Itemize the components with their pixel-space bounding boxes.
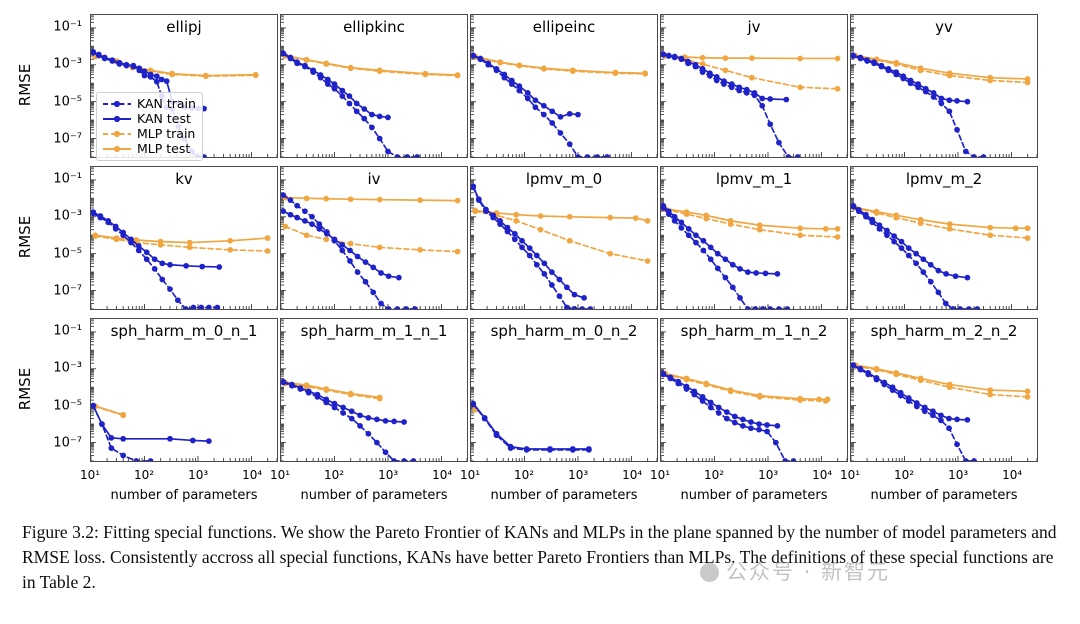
x-tick-label: 10¹ xyxy=(460,468,480,482)
plot-panel-iv: iv xyxy=(280,166,468,310)
x-axis-label: number of parameters xyxy=(660,488,848,503)
legend-label: MLP test xyxy=(137,141,190,156)
x-tick-label: 10³ xyxy=(948,468,968,482)
x-tick-label: 10⁴ xyxy=(622,468,642,482)
x-tick-label: 10¹ xyxy=(80,468,100,482)
plot-panel-lpmv_m_0: lpmv_m_0 xyxy=(470,166,658,310)
x-axis-ticks: 10¹10²10³10⁴ xyxy=(850,468,1038,486)
x-tick-label: 10² xyxy=(324,468,344,482)
legend-item-kan-test[interactable]: KAN test xyxy=(102,111,196,126)
legend-label: KAN test xyxy=(137,111,191,126)
plot-panel-lpmv_m_2: lpmv_m_2 xyxy=(850,166,1038,310)
x-axis-label: number of parameters xyxy=(470,488,658,503)
y-tick-label: 10⁻⁵ xyxy=(53,94,82,109)
y-tick-label: 10⁻¹ xyxy=(53,20,82,35)
plot-panel-lpmv_m_1: lpmv_m_1 xyxy=(660,166,848,310)
legend-line-marker-icon xyxy=(102,128,132,140)
legend-item-mlp-train[interactable]: MLP train xyxy=(102,126,196,141)
x-tick-label: 10¹ xyxy=(840,468,860,482)
x-tick-label: 10² xyxy=(134,468,154,482)
plot-panel-yv: yv xyxy=(850,14,1038,158)
plot-panel-ellipeinc: ellipeinc xyxy=(470,14,658,158)
x-axis-label: number of parameters xyxy=(90,488,278,503)
x-tick-label: 10¹ xyxy=(270,468,290,482)
y-axis-label-text: RMSE xyxy=(16,368,34,410)
x-tick-label: 10³ xyxy=(568,468,588,482)
y-tick-label: 10⁻⁷ xyxy=(53,436,82,451)
y-axis-label: RMSE xyxy=(4,228,30,248)
figure-page: ellipj10⁻¹10⁻³10⁻⁵10⁻⁷RMSEellipkincellip… xyxy=(0,0,1080,624)
y-axis-ticks: 10⁻¹10⁻³10⁻⁵10⁻⁷ xyxy=(38,318,86,462)
plot-panel-ellipkinc: ellipkinc xyxy=(280,14,468,158)
plot-panel-jv: jv xyxy=(660,14,848,158)
plot-panel-sph_harm_m_1_n_2: sph_harm_m_1_n_2 xyxy=(660,318,848,462)
y-axis-label: RMSE xyxy=(4,380,30,400)
legend-label: KAN train xyxy=(137,96,196,111)
plot-panel-sph_harm_m_2_n_2: sph_harm_m_2_n_2 xyxy=(850,318,1038,462)
y-tick-label: 10⁻¹ xyxy=(53,172,82,187)
legend-line-marker-icon xyxy=(102,143,132,155)
figure-caption: Figure 3.2: Fitting special functions. W… xyxy=(22,520,1062,595)
plot-panel-sph_harm_m_1_n_1: sph_harm_m_1_n_1 xyxy=(280,318,468,462)
x-tick-label: 10² xyxy=(704,468,724,482)
y-axis-label-text: RMSE xyxy=(16,64,34,106)
y-axis-label: RMSE xyxy=(4,76,30,96)
y-tick-label: 10⁻⁷ xyxy=(53,284,82,299)
x-tick-label: 10² xyxy=(894,468,914,482)
y-tick-label: 10⁻¹ xyxy=(53,324,82,339)
y-tick-label: 10⁻³ xyxy=(53,361,82,376)
y-tick-label: 10⁻⁷ xyxy=(53,132,82,147)
plot-panel-sph_harm_m_0_n_1: sph_harm_m_0_n_1 xyxy=(90,318,278,462)
y-axis-ticks: 10⁻¹10⁻³10⁻⁵10⁻⁷ xyxy=(38,166,86,310)
x-tick-label: 10³ xyxy=(758,468,778,482)
x-axis-label: number of parameters xyxy=(850,488,1038,503)
x-tick-label: 10⁴ xyxy=(1002,468,1022,482)
legend-line-marker-icon xyxy=(102,98,132,110)
x-axis-ticks: 10¹10²10³10⁴ xyxy=(280,468,468,486)
x-axis-ticks: 10¹10²10³10⁴ xyxy=(90,468,278,486)
x-tick-label: 10¹ xyxy=(650,468,670,482)
x-tick-label: 10⁴ xyxy=(432,468,452,482)
x-tick-label: 10⁴ xyxy=(242,468,262,482)
x-tick-label: 10³ xyxy=(378,468,398,482)
plot-legend[interactable]: KAN trainKAN testMLP trainMLP test xyxy=(96,92,203,161)
x-axis-label: number of parameters xyxy=(280,488,468,503)
legend-line-marker-icon xyxy=(102,113,132,125)
plot-panel-kv: kv xyxy=(90,166,278,310)
y-tick-label: 10⁻⁵ xyxy=(53,398,82,413)
plot-panel-sph_harm_m_0_n_2: sph_harm_m_0_n_2 xyxy=(470,318,658,462)
y-tick-label: 10⁻³ xyxy=(53,57,82,72)
legend-item-mlp-test[interactable]: MLP test xyxy=(102,141,196,156)
x-tick-label: 10² xyxy=(514,468,534,482)
y-axis-ticks: 10⁻¹10⁻³10⁻⁵10⁻⁷ xyxy=(38,14,86,158)
y-axis-label-text: RMSE xyxy=(16,216,34,258)
x-axis-ticks: 10¹10²10³10⁴ xyxy=(660,468,848,486)
y-tick-label: 10⁻⁵ xyxy=(53,246,82,261)
figure-panel-grid: ellipj10⁻¹10⁻³10⁻⁵10⁻⁷RMSEellipkincellip… xyxy=(0,0,1080,512)
y-tick-label: 10⁻³ xyxy=(53,209,82,224)
x-tick-label: 10⁴ xyxy=(812,468,832,482)
legend-item-kan-train[interactable]: KAN train xyxy=(102,96,196,111)
x-axis-ticks: 10¹10²10³10⁴ xyxy=(470,468,658,486)
legend-label: MLP train xyxy=(137,126,195,141)
x-tick-label: 10³ xyxy=(188,468,208,482)
